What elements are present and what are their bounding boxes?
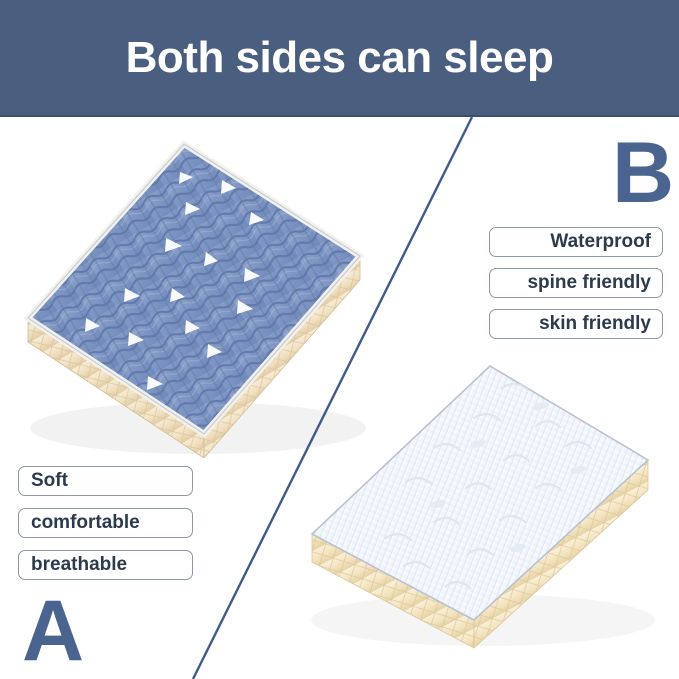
product-infographic: Both sides can sleep	[0, 0, 679, 679]
header-banner: Both sides can sleep	[0, 0, 679, 117]
page-title: Both sides can sleep	[126, 36, 554, 80]
product-image-side-b	[278, 352, 678, 674]
feature-pill-spine-friendly: spine friendly	[489, 268, 663, 298]
feature-pill-comfortable: comfortable	[18, 508, 193, 538]
feature-pill-waterproof: Waterproof	[489, 227, 663, 257]
side-label-b: B	[612, 130, 674, 216]
feature-pill-breathable: breathable	[18, 550, 193, 580]
feature-pill-skin-friendly: skin friendly	[489, 309, 663, 339]
side-label-a: A	[22, 588, 84, 674]
feature-pill-soft: Soft	[18, 466, 193, 496]
